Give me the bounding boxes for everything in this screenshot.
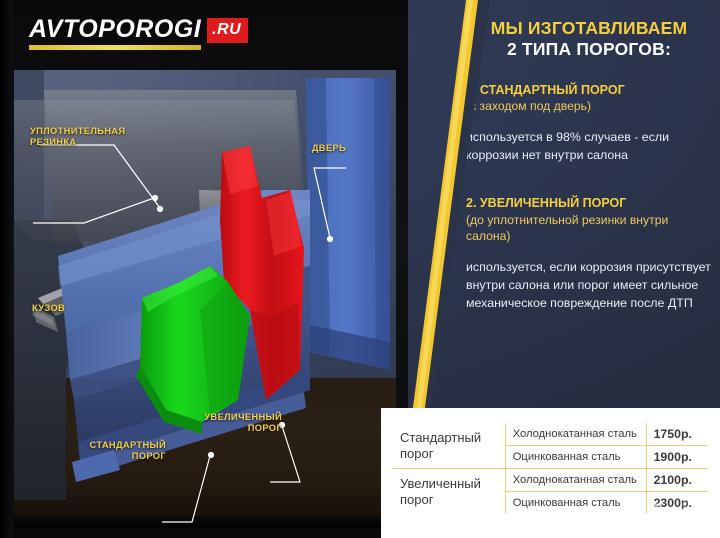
price-table-panel: Стандартный порог Холоднокатанная сталь … xyxy=(381,408,720,538)
label-door: ДВЕРЬ xyxy=(286,143,346,154)
row-name-enlarged: Увеличенный порог xyxy=(393,469,506,515)
row-material: Холоднокатанная сталь xyxy=(505,423,646,446)
type-block-standard: 1. СТАНДАРТНЫЙ ПОРОГ (с заходом под двер… xyxy=(466,82,712,165)
headline: МЫ ИЗГОТАВЛИВАЕМ 2 ТИПА ПОРОГОВ: xyxy=(466,18,712,60)
brand-logo[interactable]: AVTOPOROGI .RU xyxy=(29,17,248,50)
row-material: Холоднокатанная сталь xyxy=(505,469,646,492)
type-enlarged-title: 2. УВЕЛИЧЕННЫЙ ПОРОГ xyxy=(466,195,712,212)
type-enlarged-subtitle: (до уплотнительной резинки внутри салона… xyxy=(466,212,712,245)
price-table: Стандартный порог Холоднокатанная сталь … xyxy=(392,422,709,515)
label-body: КУЗОВ xyxy=(32,303,112,314)
price-table-body: Стандартный порог Холоднокатанная сталь … xyxy=(393,423,709,515)
brand-name: AVTOPOROGI xyxy=(29,17,201,42)
type-standard-body: используется в 98% случаев - если корроз… xyxy=(466,129,712,165)
type-standard-subtitle: (с заходом под дверь) xyxy=(466,98,712,114)
row-material: Оцинкованная сталь xyxy=(505,446,646,469)
label-seal: УПЛОТНИТЕЛЬНАЯ РЕЗИНКА xyxy=(30,126,170,149)
row-price: 2100р. xyxy=(646,469,708,492)
row-material: Оцинкованная сталь xyxy=(505,492,646,515)
row-price: 2300р. xyxy=(646,492,708,515)
row-price: 1750р. xyxy=(646,423,708,446)
label-standard-sill: СТАНДАРТНЫЙ ПОРОГ xyxy=(78,440,166,463)
headline-line-1: МЫ ИЗГОТАВЛИВАЕМ xyxy=(466,18,712,38)
type-block-enlarged: 2. УВЕЛИЧЕННЫЙ ПОРОГ (до уплотнительной … xyxy=(466,195,712,313)
headline-line-2: 2 ТИПА ПОРОГОВ: xyxy=(466,39,712,59)
brand-wordmark: AVTOPOROGI xyxy=(29,17,201,50)
type-standard-title: 1. СТАНДАРТНЫЙ ПОРОГ xyxy=(466,82,712,99)
row-price: 1900р. xyxy=(646,446,708,469)
table-row: Стандартный порог Холоднокатанная сталь … xyxy=(393,423,709,446)
label-enlarged-sill: УВЕЛИЧЕННЫЙ ПОРОГ xyxy=(188,412,282,435)
table-row: Увеличенный порог Холоднокатанная сталь … xyxy=(393,469,709,492)
row-name-standard: Стандартный порог xyxy=(393,423,506,469)
brand-tld-badge: .RU xyxy=(207,18,248,43)
promo-banner: УПЛОТНИТЕЛЬНАЯ РЕЗИНКА ДВЕРЬ КУЗОВ СТАНД… xyxy=(0,0,720,538)
type-enlarged-body: используется, если коррозия присутствует… xyxy=(466,259,712,313)
brand-underline-bar xyxy=(29,45,201,50)
